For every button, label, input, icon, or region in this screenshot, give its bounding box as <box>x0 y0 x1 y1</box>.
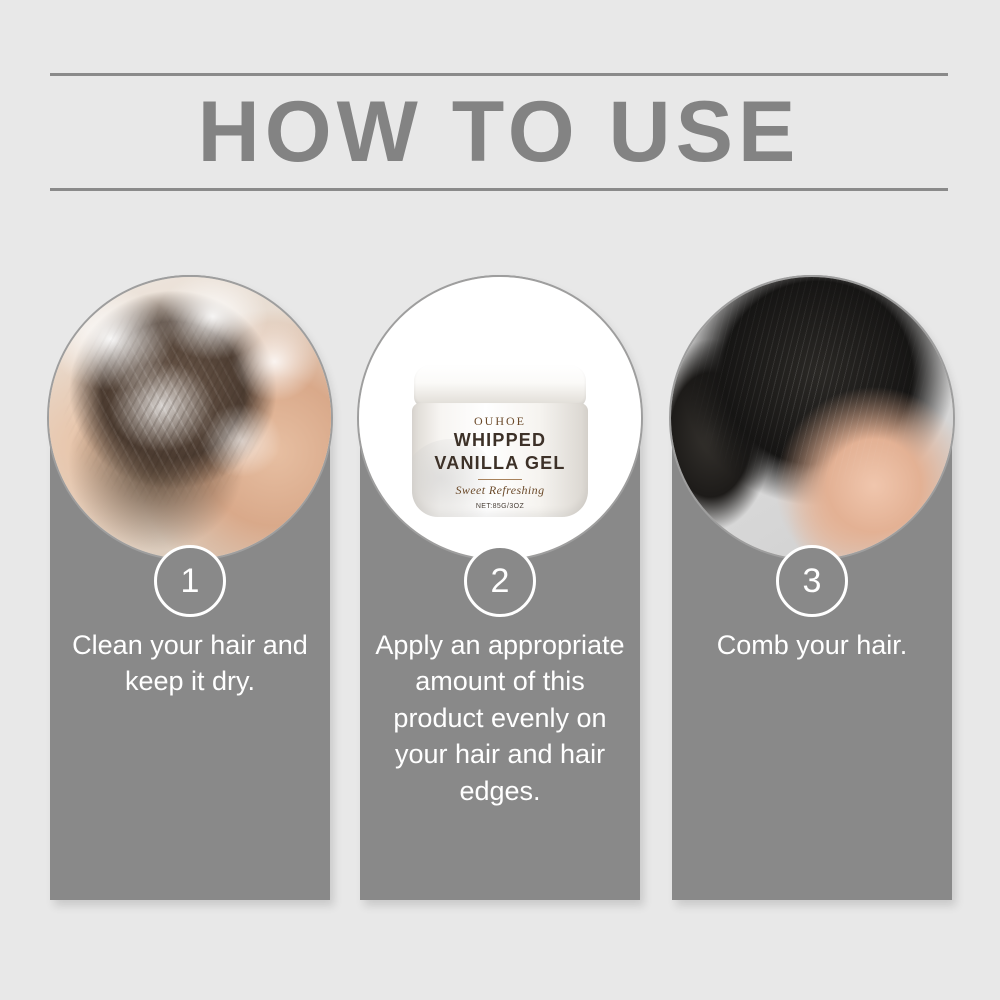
product-net-weight: NET:85G/3OZ <box>412 503 588 510</box>
jar-label-divider <box>478 479 522 480</box>
product-jar: OUHOE WHIPPED VANILLA GEL Sweet Refreshi… <box>412 365 588 517</box>
sleek-ponytail-image <box>671 277 953 559</box>
step-2-photo: OUHOE WHIPPED VANILLA GEL Sweet Refreshi… <box>357 275 643 561</box>
steps-container: 1 Clean your hair and keep it dry. OUHOE… <box>0 275 1000 915</box>
step-number-2: 2 <box>491 562 510 601</box>
step-number-3: 3 <box>803 562 822 601</box>
product-name-line-2: VANILLA GEL <box>412 454 588 473</box>
product-tagline: Sweet Refreshing <box>412 484 588 497</box>
product-jar-image: OUHOE WHIPPED VANILLA GEL Sweet Refreshi… <box>359 277 641 559</box>
header: HOW TO USE <box>50 73 948 191</box>
hair-washing-lather-image <box>49 277 331 559</box>
step-number-1: 1 <box>181 562 200 601</box>
step-1-photo <box>47 275 333 561</box>
jar-label: OUHOE WHIPPED VANILLA GEL Sweet Refreshi… <box>412 415 588 510</box>
product-name-line-1: WHIPPED <box>412 431 588 450</box>
step-caption-2: Apply an appropriate amount of this prod… <box>368 627 632 809</box>
step-number-badge-1: 1 <box>154 545 226 617</box>
step-number-badge-2: 2 <box>464 545 536 617</box>
step-card-3: 3 Comb your hair. <box>672 275 952 900</box>
step-card-1: 1 Clean your hair and keep it dry. <box>50 275 330 900</box>
jar-lid <box>414 365 586 407</box>
step-caption-3: Comb your hair. <box>680 627 944 663</box>
step-number-badge-3: 3 <box>776 545 848 617</box>
header-rule-top <box>50 73 948 76</box>
product-brand: OUHOE <box>412 415 588 428</box>
step-3-photo <box>669 275 955 561</box>
step-caption-1: Clean your hair and keep it dry. <box>58 627 322 700</box>
jar-body: OUHOE WHIPPED VANILLA GEL Sweet Refreshi… <box>412 403 588 517</box>
page-title: HOW TO USE <box>50 89 948 175</box>
header-rule-bottom <box>50 188 948 191</box>
step-card-2: OUHOE WHIPPED VANILLA GEL Sweet Refreshi… <box>360 275 640 900</box>
